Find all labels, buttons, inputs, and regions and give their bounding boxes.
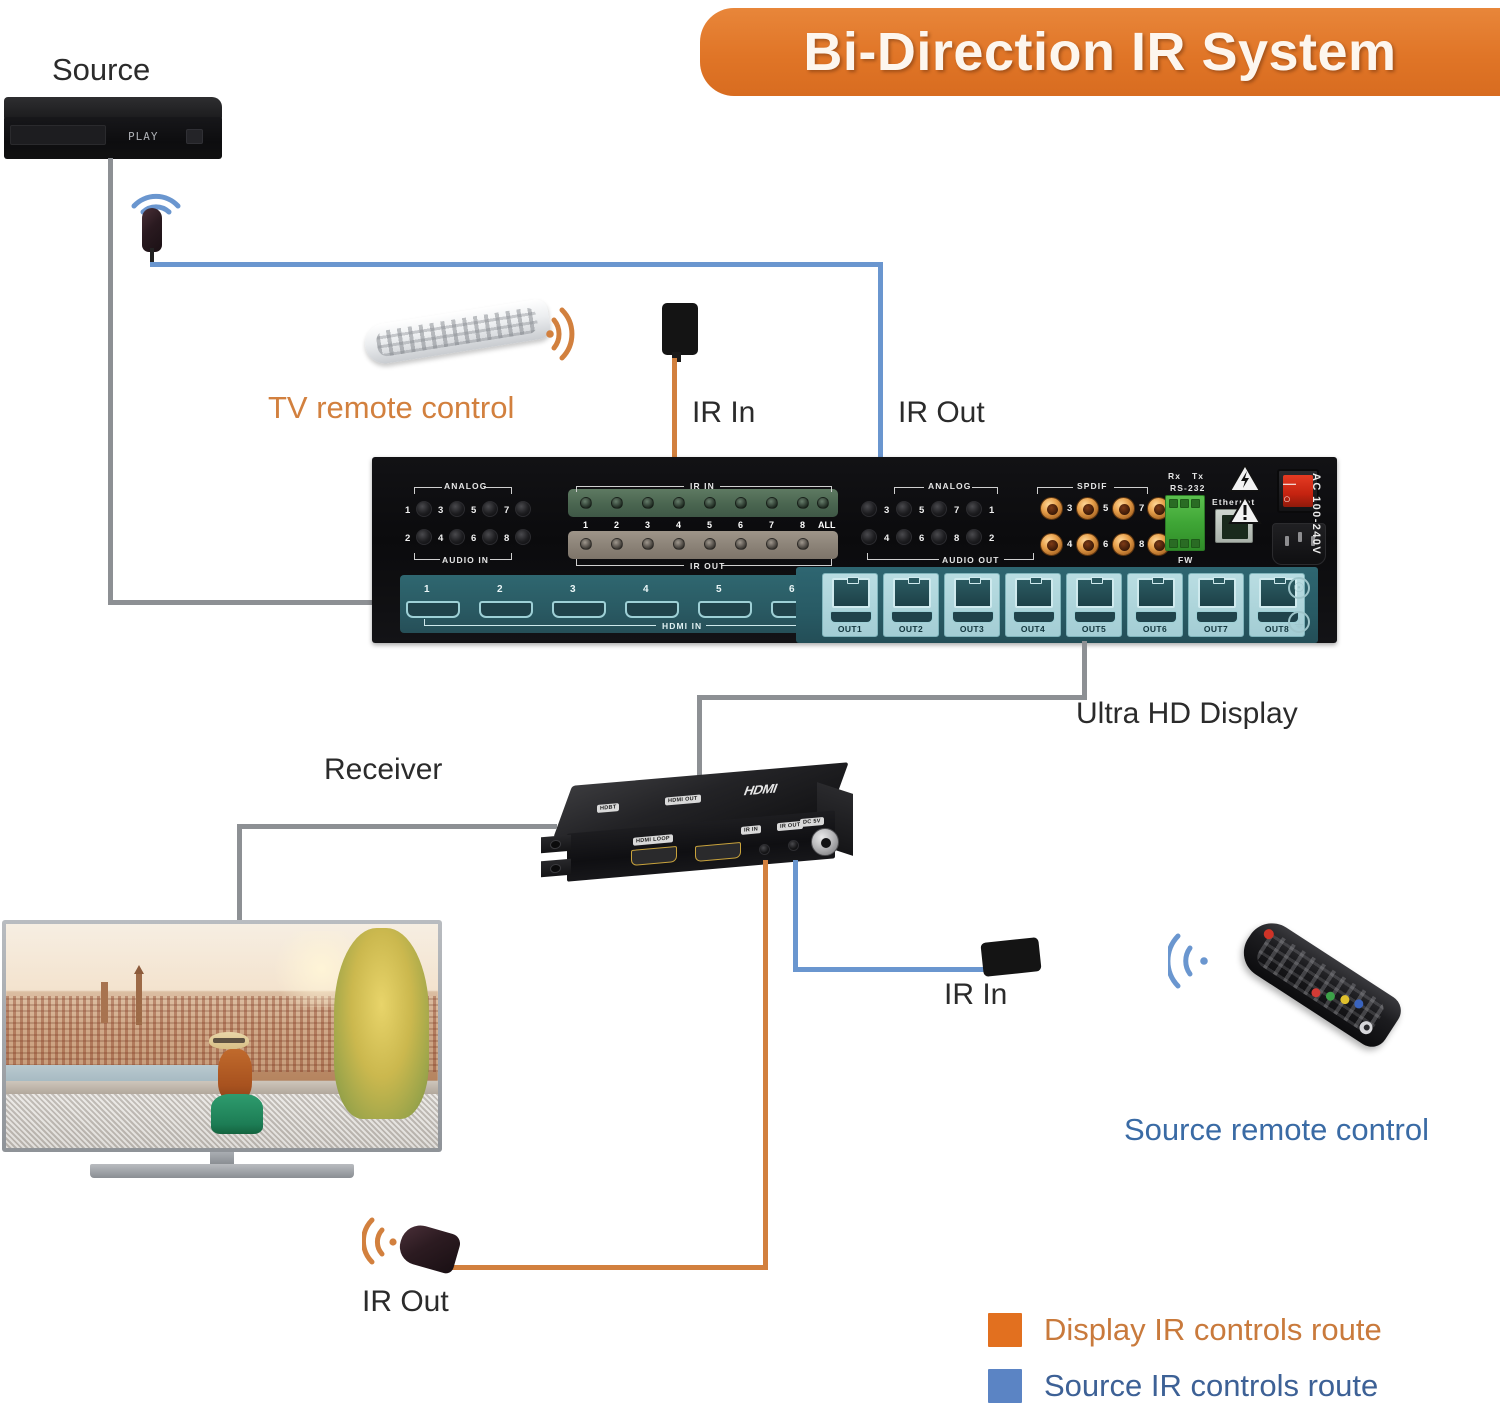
output-7-rj45-tab	[1213, 577, 1225, 584]
output-4-label: OUT4	[1006, 624, 1060, 634]
spdif-num-4: 4	[1067, 539, 1072, 550]
legend-item-source-ir: Source IR controls route	[988, 1368, 1378, 1404]
matrix-switcher: ANALOG 1 3 5 7 2 4 6 8 AUDIO IN IR IN	[372, 457, 1337, 643]
cable-source-hdmi-vertical	[108, 158, 113, 604]
ac-inlet-pin-1	[1285, 536, 1289, 546]
ultra-hd-tv	[2, 920, 442, 1188]
spdif-rca-6-center	[1119, 540, 1130, 551]
ir-out-hole-3[interactable]	[642, 538, 654, 550]
hdmi-in-num-4: 4	[643, 584, 649, 595]
ir-out-hole-2[interactable]	[611, 538, 623, 550]
hdmi-in-group-label: HDMI IN	[662, 621, 702, 631]
analog-out-rule-right	[972, 487, 998, 488]
source-device-top	[4, 97, 222, 119]
hdmi-in-num-3: 3	[570, 584, 576, 595]
output-8-rj45-tab	[1274, 577, 1286, 584]
analog-in-rule-left	[414, 487, 442, 488]
output-2-label: OUT2	[884, 624, 938, 634]
spdif-num-5: 5	[1103, 503, 1108, 514]
hdmi-in-num-5: 5	[716, 584, 722, 595]
audio-in-tick-right	[511, 553, 512, 560]
analog-out-num-3: 3	[884, 505, 889, 516]
output-port-5[interactable]: OUT5	[1066, 573, 1122, 637]
audio-out-rule-left	[867, 559, 939, 560]
analog-in-jack-4[interactable]	[449, 529, 465, 545]
rs232-screw-2[interactable]	[1180, 499, 1189, 508]
source-device: PLAY	[4, 97, 222, 159]
cable-source-ir-horizontal	[150, 262, 882, 267]
ir-out-hole-4[interactable]	[673, 538, 685, 550]
audio-out-tick-left	[867, 553, 868, 560]
scene-person-hat	[209, 1032, 249, 1049]
source-remote-body	[1234, 913, 1407, 1053]
output-5-label: OUT5	[1067, 624, 1121, 634]
source-ir-emitter-bud	[142, 208, 162, 252]
rs232-screw-3[interactable]	[1191, 499, 1200, 508]
ir-out-hole-8[interactable]	[797, 538, 809, 550]
ir-out-hole-1[interactable]	[580, 538, 592, 550]
hdbt-receiver: HDMI HDBT HDMI OUT HDMI LOOP IR IN IR OU…	[545, 760, 865, 895]
output-3-label: OUT3	[945, 624, 999, 634]
spdif-rca-4-center	[1083, 540, 1094, 551]
source-power-button[interactable]	[186, 129, 203, 144]
rs232-terminal-block[interactable]	[1165, 495, 1205, 551]
spdif-rca-2[interactable]	[1040, 533, 1063, 556]
output-3-rj45[interactable]	[954, 578, 992, 608]
cable-out5-horizontal	[697, 695, 1087, 700]
ir-num-1: 1	[583, 520, 588, 530]
cable-receiver-to-tv-horizontal	[237, 824, 557, 829]
title-banner: Bi-Direction IR System	[700, 8, 1500, 96]
hdmi-in-port-5[interactable]	[698, 601, 752, 618]
legend: Display IR controls route Source IR cont…	[988, 1312, 1488, 1407]
ir-out-hole-6[interactable]	[735, 538, 747, 550]
spdif-num-3: 3	[1067, 503, 1072, 514]
source-remote-control-label: Source remote control	[1124, 1112, 1429, 1148]
legend-label-display-ir: Display IR controls route	[1044, 1312, 1382, 1348]
spdif-label: SPDIF	[1077, 481, 1108, 491]
ir-out-rule-left	[576, 565, 684, 566]
spdif-rule-left	[1037, 487, 1073, 488]
tv-remote-control-label: TV remote control	[268, 390, 514, 426]
ir-in-hole-3[interactable]	[642, 497, 654, 509]
ir-num-5: 5	[707, 520, 712, 530]
ultra-hd-display-label: Ultra HD Display	[1076, 697, 1298, 731]
audio-out-tick-right	[1033, 553, 1034, 560]
cable-source-hdmi-horizontal	[108, 600, 406, 605]
spdif-rca-3[interactable]	[1076, 497, 1099, 520]
ir-in-tick-right	[831, 486, 832, 492]
ir-in-receiver-block	[662, 303, 698, 355]
output-port-4[interactable]: OUT4	[1005, 573, 1061, 637]
rs232-tx-label: Tx	[1192, 471, 1204, 481]
analog-out-jack-5[interactable]	[931, 501, 947, 517]
analog-in-jack-5[interactable]	[482, 501, 498, 517]
spdif-tick-right	[1147, 487, 1148, 494]
rs232-label: RS-232	[1170, 483, 1205, 493]
rs232-screw-1[interactable]	[1169, 499, 1178, 508]
audio-in-rule-left	[414, 559, 440, 560]
ir-in-hole-8[interactable]	[797, 497, 809, 509]
fw-label: FW	[1178, 555, 1193, 565]
output-port-6[interactable]: OUT6	[1127, 573, 1183, 637]
scene-tower-2	[136, 973, 142, 1025]
earth-ground-icon: ⏚	[1288, 611, 1310, 633]
analog-out-jack-2[interactable]	[861, 529, 877, 545]
rs232-rx-label: Rx	[1168, 471, 1181, 481]
audio-in-tick-left	[414, 553, 415, 560]
analog-in-num-8: 8	[504, 533, 509, 544]
output-bank: OUT1 OUT2 OUT3 OUT4 OUT5	[796, 567, 1318, 643]
output-5-rj45[interactable]	[1076, 578, 1114, 608]
output-6-rj45[interactable]	[1137, 578, 1175, 608]
ir-in-panel-label: IR IN	[690, 481, 715, 491]
tv-stand-base	[90, 1164, 354, 1178]
analog-in-jack-8[interactable]	[515, 529, 531, 545]
receiver-mount-hole-bottom	[550, 864, 561, 874]
analog-in-jack-3[interactable]	[449, 501, 465, 517]
display-ir-emitter-waves-icon	[362, 1216, 412, 1268]
analog-in-num-3: 3	[438, 505, 443, 516]
ir-num-3: 3	[645, 520, 650, 530]
analog-in-num-7: 7	[504, 505, 509, 516]
analog-in-jack-1[interactable]	[416, 501, 432, 517]
analog-out-num-8: 8	[954, 533, 959, 544]
spdif-rca-1[interactable]	[1040, 497, 1063, 520]
ir-out-matrix-label: IR Out	[898, 396, 985, 430]
spdif-rca-3-center	[1083, 504, 1094, 515]
spdif-rca-8-center	[1154, 540, 1165, 551]
spdif-num-7: 7	[1139, 503, 1144, 514]
cable-receiver-ir-in-vertical	[793, 860, 798, 972]
receiver-ir-in-block	[980, 937, 1041, 977]
receiver-label: Receiver	[324, 753, 442, 787]
analog-out-jack-1[interactable]	[861, 501, 877, 517]
receiver-mount-ear-bottom	[541, 859, 571, 878]
ir-out-panel-label: IR OUT	[690, 561, 725, 571]
cable-receiver-ir-out-vertical	[763, 860, 768, 1270]
output-2-rj45[interactable]	[893, 578, 931, 608]
cable-out5-down	[1082, 641, 1087, 699]
analog-in-tick-left	[414, 487, 415, 494]
hdmi-in-port-3[interactable]	[552, 601, 606, 618]
analog-in-label: ANALOG	[444, 481, 487, 491]
source-ir-emitter-tail	[150, 248, 154, 262]
scene-person-dress	[211, 1094, 263, 1134]
source-device-face: PLAY	[4, 117, 222, 159]
analog-in-num-1: 1	[405, 505, 410, 516]
rs232-screw-4[interactable]	[1169, 539, 1178, 548]
audio-out-rule-right	[1004, 559, 1034, 560]
ir-out-hole-7[interactable]	[766, 538, 778, 550]
hdmi-in-num-6: 6	[789, 584, 795, 595]
tv-screen	[6, 924, 438, 1148]
output-1-rj45-tab	[847, 577, 859, 584]
source-label: Source	[52, 52, 150, 88]
legend-swatch-source-ir	[988, 1369, 1022, 1403]
receiver-dc-power-jack[interactable]	[811, 828, 839, 856]
ir-out-hole-5[interactable]	[704, 538, 716, 550]
output-3-hdmi[interactable]	[952, 611, 994, 623]
output-7-hdmi[interactable]	[1196, 611, 1238, 623]
ir-out-tick-right	[831, 559, 832, 566]
high-voltage-warning-icon	[1228, 463, 1262, 493]
receiver-ir-out-jack[interactable]	[759, 844, 770, 855]
output-2-hdmi[interactable]	[891, 611, 933, 623]
cable-receiver-ir-out-horizontal	[448, 1265, 768, 1270]
spdif-rule-right	[1114, 487, 1148, 488]
analog-out-num-7: 7	[954, 505, 959, 516]
analog-out-num-2: 2	[989, 533, 994, 544]
receiver-mount-ear-top	[541, 835, 571, 854]
analog-in-num-5: 5	[471, 505, 476, 516]
power-switch-rocker[interactable]: — ○	[1283, 475, 1313, 507]
ir-in-hole-4[interactable]	[673, 497, 685, 509]
analog-in-num-4: 4	[438, 533, 443, 544]
receiver-mount-hole-top	[550, 840, 561, 850]
cable-receiver-ir-in-horizontal	[793, 967, 985, 972]
spdif-num-6: 6	[1103, 539, 1108, 550]
analog-in-num-6: 6	[471, 533, 476, 544]
output-5-hdmi[interactable]	[1074, 611, 1116, 623]
analog-out-rule-left	[894, 487, 924, 488]
ir-in-matrix-label: IR In	[692, 396, 755, 430]
output-port-1[interactable]: OUT1	[822, 573, 878, 637]
spdif-rca-6[interactable]	[1112, 533, 1135, 556]
spdif-rca-5[interactable]	[1112, 497, 1135, 520]
analog-out-num-4: 4	[884, 533, 889, 544]
output-1-hdmi[interactable]	[830, 611, 872, 623]
cable-receiver-to-tv-vertical	[237, 824, 242, 930]
tv-remote-control[interactable]	[362, 298, 554, 378]
scene-tower-1	[101, 982, 108, 1022]
spdif-rca-5-center	[1119, 504, 1130, 515]
tv-remote-keypad	[375, 307, 539, 358]
output-4-rj45[interactable]	[1015, 578, 1053, 608]
legend-swatch-display-ir	[988, 1313, 1022, 1347]
ir-in-hole-2[interactable]	[611, 497, 623, 509]
page-title: Bi-Direction IR System	[803, 21, 1396, 83]
spdif-rca-1-center	[1047, 504, 1058, 515]
ir-in-hole-all[interactable]	[817, 497, 829, 509]
output-3-rj45-tab	[969, 577, 981, 584]
analog-out-jack-6[interactable]	[931, 529, 947, 545]
spdif-num-8: 8	[1139, 539, 1144, 550]
spdif-rca-2-center	[1047, 540, 1058, 551]
ir-in-hole-1[interactable]	[580, 497, 592, 509]
hdmi-in-tick-left	[424, 619, 425, 626]
ir-num-4: 4	[676, 520, 681, 530]
hdmi-in-num-1: 1	[424, 584, 430, 595]
analog-in-jack-2[interactable]	[416, 529, 432, 545]
analog-in-num-2: 2	[405, 533, 410, 544]
rs232-screw-5[interactable]	[1180, 539, 1189, 548]
ir-out-tick-left	[576, 559, 577, 566]
hdmi-in-num-2: 2	[497, 584, 503, 595]
output-port-3[interactable]: OUT3	[944, 573, 1000, 637]
ac-voltage-label: AC 100-240V	[1310, 473, 1322, 555]
output-7-rj45[interactable]	[1198, 578, 1236, 608]
analog-out-num-6: 6	[919, 533, 924, 544]
ir-in-receiver-label: IR In	[944, 978, 1007, 1012]
ir-in-rule-left	[576, 486, 684, 487]
audio-in-label: AUDIO IN	[442, 555, 489, 565]
ir-in-hole-6[interactable]	[735, 497, 747, 509]
ac-inlet-pin-2	[1298, 532, 1302, 542]
analog-out-label: ANALOG	[928, 481, 971, 491]
analog-out-jack-4[interactable]	[896, 529, 912, 545]
analog-out-tick-right	[997, 487, 998, 494]
tv-remote-ir-waves-icon	[546, 306, 604, 362]
analog-out-jack-7[interactable]	[966, 501, 982, 517]
output-4-rj45-tab	[1030, 577, 1042, 584]
legend-label-source-ir: Source IR controls route	[1044, 1368, 1378, 1404]
scene-tree	[334, 928, 429, 1118]
analog-out-tick-left	[894, 487, 895, 494]
caution-warning-icon	[1228, 495, 1262, 525]
analog-in-jack-6[interactable]	[482, 529, 498, 545]
rs232-screw-6[interactable]	[1191, 539, 1200, 548]
ir-num-8: 8	[800, 520, 805, 530]
disc-tray	[10, 125, 106, 145]
audio-in-rule-right	[490, 559, 512, 560]
hdmi-in-rule-left	[424, 625, 656, 626]
spdif-tick-left	[1037, 487, 1038, 494]
tv-remote-body	[362, 298, 552, 367]
receiver-ir-in-jack[interactable]	[788, 840, 799, 851]
legend-item-display-ir: Display IR controls route	[988, 1312, 1382, 1348]
ground-screw-icon: ☉	[1288, 577, 1310, 599]
ir-num-all: ALL	[818, 520, 836, 530]
output-7-label: OUT7	[1189, 624, 1243, 634]
spdif-rca-4[interactable]	[1076, 533, 1099, 556]
output-5-rj45-tab	[1091, 577, 1103, 584]
analog-in-jack-7[interactable]	[515, 501, 531, 517]
ir-num-6: 6	[738, 520, 743, 530]
ir-in-hole-7[interactable]	[766, 497, 778, 509]
ir-out-display-label: IR Out	[362, 1285, 449, 1319]
ir-in-rule-right	[720, 486, 832, 487]
diagram-canvas: Bi-Direction IR System Source PLAY	[0, 0, 1500, 1417]
ir-num-2: 2	[614, 520, 619, 530]
ir-in-hole-5[interactable]	[704, 497, 716, 509]
output-6-label: OUT6	[1128, 624, 1182, 634]
analog-out-num-5: 5	[919, 505, 924, 516]
output-1-rj45[interactable]	[832, 578, 870, 608]
output-6-hdmi[interactable]	[1135, 611, 1177, 623]
ir-num-7: 7	[769, 520, 774, 530]
ir-in-tick-left	[576, 486, 577, 492]
output-2-rj45-tab	[908, 577, 920, 584]
source-remote-keypad	[1253, 930, 1388, 1035]
analog-in-rule-right	[484, 487, 512, 488]
output-port-2[interactable]: OUT2	[883, 573, 939, 637]
analog-out-num-1: 1	[989, 505, 994, 516]
tv-bezel	[2, 920, 442, 1152]
analog-out-jack-8[interactable]	[966, 529, 982, 545]
output-6-rj45-tab	[1152, 577, 1164, 584]
hdmi-in-port-2[interactable]	[479, 601, 533, 618]
hdmi-in-port-4[interactable]	[625, 601, 679, 618]
output-1-label: OUT1	[823, 624, 877, 634]
ir-out-rule-right	[722, 565, 832, 566]
source-display-text: PLAY	[128, 130, 174, 144]
output-port-7[interactable]: OUT7	[1188, 573, 1244, 637]
audio-out-label: AUDIO OUT	[942, 555, 1000, 565]
analog-out-jack-3[interactable]	[896, 501, 912, 517]
analog-in-tick-right	[511, 487, 512, 494]
hdmi-in-port-1[interactable]	[406, 601, 460, 618]
output-4-hdmi[interactable]	[1013, 611, 1055, 623]
spdif-rca-7-center	[1154, 504, 1165, 515]
